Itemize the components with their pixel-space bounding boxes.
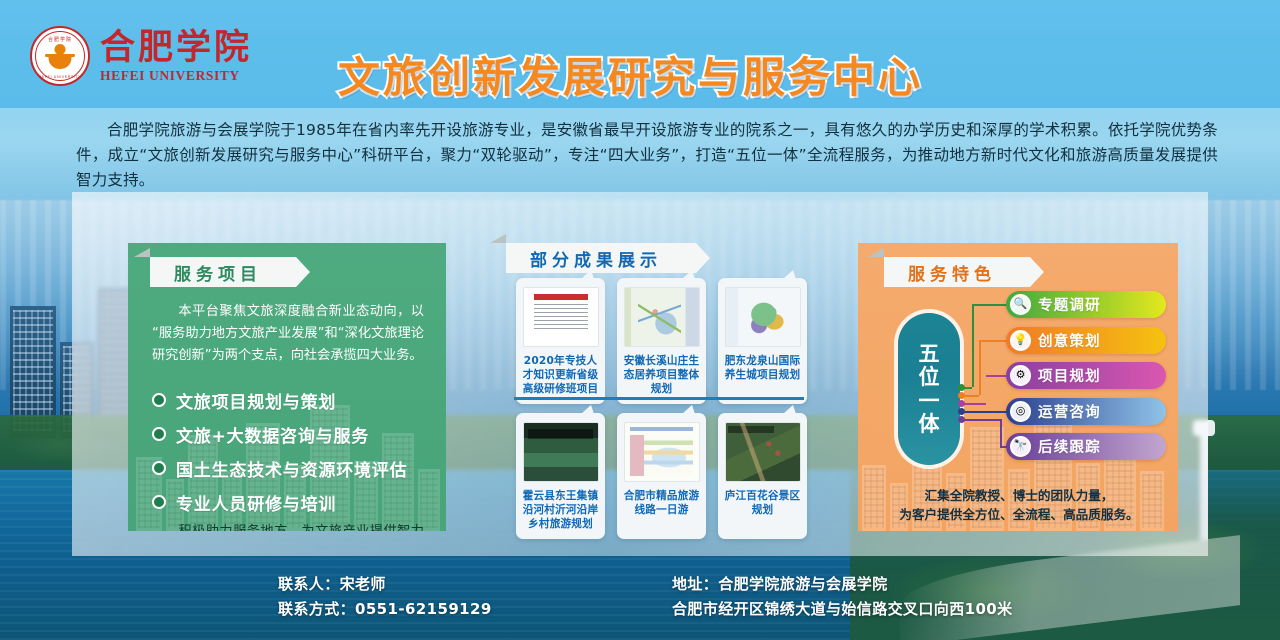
research-icon: 🔍: [1010, 294, 1031, 315]
feature-badges: 🔍 专题调研 💡 创意策划 ⚙ 项目规划 ◎ 运营咨询 🔭 后续跟踪: [1006, 291, 1166, 469]
features-footnote-line1: 汇集全院教授、博士的团队力量，: [888, 486, 1150, 505]
core-char: 位: [919, 366, 940, 388]
result-card[interactable]: 合肥市精品旅游线路一日游: [617, 413, 706, 539]
result-card[interactable]: 霍云县东王集镇沿河村沂河沿岸乡村旅游规划: [516, 413, 605, 539]
bullet-ring-icon: [152, 461, 166, 475]
list-item: 文旅项目规划与策划: [152, 383, 438, 417]
document-thumbnail-icon: [523, 287, 599, 347]
list-item: 国土生态技术与资源环境评估: [152, 451, 438, 485]
feature-badge-label: 运营咨询: [1038, 401, 1101, 422]
core-char: 五: [919, 343, 940, 365]
services-intro: 本平台聚焦文旅深度融合新业态动向，以“服务助力地方文旅产业发展”和“深化文旅理论…: [152, 301, 424, 367]
feature-badge[interactable]: ⚙ 项目规划: [1006, 362, 1166, 389]
feature-badge-label: 创意策划: [1038, 330, 1101, 351]
features-heading: 服务特色: [884, 257, 1030, 287]
feature-badge[interactable]: 🔍 专题调研: [1006, 291, 1166, 318]
address-line-1: 地址：合肥学院旅游与会展学院: [672, 572, 1013, 597]
university-seal-icon: 合肥学院 HEFEI UNIVERSITY: [30, 26, 90, 86]
results-heading-ribbon: 部分成果展示: [506, 243, 696, 273]
core-concept-pill: 五 位 一 体: [898, 313, 960, 465]
header-band: 合肥学院 HEFEI UNIVERSITY 合肥学院 HEFEI UNIVERS…: [0, 0, 1280, 108]
core-char: 一: [919, 390, 940, 412]
service-item-label: 文旅项目规划与策划: [176, 388, 336, 413]
services-panel: 服务项目 本平台聚焦文旅深度融合新业态动向，以“服务助力地方文旅产业发展”和“深…: [128, 243, 446, 531]
river-photo-thumbnail-icon: [523, 422, 599, 482]
tracking-icon: 🔭: [1010, 436, 1031, 457]
tour-table-thumbnail-icon: [624, 422, 700, 482]
logo-name-en: HEFEI UNIVERSITY: [100, 69, 252, 83]
page-title: 文旅创新发展研究与服务中心: [338, 44, 923, 105]
globe-consult-icon: ◎: [1010, 401, 1031, 422]
logo-name-cn: 合肥学院: [100, 30, 252, 65]
result-card[interactable]: 2020年专技人才知识更新省级高级研修班项目: [516, 278, 605, 404]
bullet-ring-icon: [152, 393, 166, 407]
service-item-label: 专业人员研修与培训: [176, 490, 336, 515]
footer-address: 地址：合肥学院旅游与会展学院 合肥市经开区锦绣大道与始信路交叉口向西100米: [672, 572, 1013, 622]
contact-person: 联系人：宋老师: [278, 572, 492, 597]
contact-phone: 联系方式：0551-62159129: [278, 597, 492, 622]
zoning-map-thumbnail-icon: [725, 287, 801, 347]
feature-badge[interactable]: 💡 创意策划: [1006, 327, 1166, 354]
list-item: 专业人员研修与培训: [152, 485, 438, 519]
services-intro-text: 本平台聚焦文旅深度融合新业态动向，以“服务助力地方文旅产业发展”和“深化文旅理论…: [152, 301, 424, 367]
list-item: 文旅+大数据咨询与服务: [152, 417, 438, 451]
features-heading-ribbon: 服务特色: [884, 257, 1030, 287]
features-footnote-line2: 为客户提供全方位、全流程、高品质服务。: [888, 505, 1150, 524]
bullet-ring-icon: [152, 495, 166, 509]
map-plan-thumbnail-icon: [624, 287, 700, 347]
services-heading-ribbon: 服务项目: [150, 257, 296, 287]
poster-canvas: 合肥学院 HEFEI UNIVERSITY 合肥学院 HEFEI UNIVERS…: [0, 0, 1280, 640]
result-caption: 合肥市精品旅游线路一日游: [623, 489, 700, 517]
seal-en-text: HEFEI UNIVERSITY: [39, 75, 82, 79]
seal-emblem: [43, 39, 77, 73]
feature-badge[interactable]: ◎ 运营咨询: [1006, 398, 1166, 425]
results-heading: 部分成果展示: [506, 243, 696, 273]
bullet-ring-icon: [152, 427, 166, 441]
features-footnote: 汇集全院教授、博士的团队力量， 为客户提供全方位、全流程、高品质服务。: [888, 486, 1150, 524]
result-caption: 庐江百花谷景区规划: [724, 489, 801, 517]
feature-badge[interactable]: 🔭 后续跟踪: [1006, 433, 1166, 460]
result-caption: 霍云县东王集镇沿河村沂河沿岸乡村旅游规划: [522, 489, 599, 531]
intro-text: 合肥学院旅游与会展学院于1985年在省内率先开设旅游专业，是安徽省最早开设旅游专…: [76, 118, 1218, 193]
feature-badge-label: 专题调研: [1038, 294, 1101, 315]
address-line-2: 合肥市经开区锦绣大道与始信路交叉口向西100米: [672, 597, 1013, 622]
service-item-label: 文旅+大数据咨询与服务: [176, 422, 369, 447]
result-caption: 肥东龙泉山国际养生城项目规划: [724, 354, 801, 382]
services-footnote-text: 积极助力服务地方，为文旅产业提供智力支持。: [152, 521, 424, 531]
results-bottom-row: 霍云县东王集镇沿河村沂河沿岸乡村旅游规划 合肥市精品旅游线路一日游 庐江百花谷景…: [516, 413, 807, 539]
services-footnote: 积极助力服务地方，为文旅产业提供智力支持。: [152, 521, 424, 531]
result-caption: 安徽长溪山庄生态居养项目整体规划: [623, 354, 700, 396]
result-card[interactable]: 庐江百花谷景区规划: [718, 413, 807, 539]
results-divider: [514, 397, 804, 400]
blueprint-icon: ⚙: [1010, 365, 1031, 386]
result-caption: 2020年专技人才知识更新省级高级研修班项目: [522, 354, 599, 396]
results-top-row: 2020年专技人才知识更新省级高级研修班项目 安徽长溪山庄生态居养项目整体规划 …: [516, 278, 807, 404]
core-char: 体: [919, 413, 940, 435]
result-card[interactable]: 肥东龙泉山国际养生城项目规划: [718, 278, 807, 404]
service-item-label: 国土生态技术与资源环境评估: [176, 456, 407, 481]
feature-badge-label: 项目规划: [1038, 365, 1101, 386]
services-list: 文旅项目规划与策划 文旅+大数据咨询与服务 国土生态技术与资源环境评估 专业人员…: [152, 383, 438, 519]
result-card[interactable]: 安徽长溪山庄生态居养项目整体规划: [617, 278, 706, 404]
footer-contact: 联系人：宋老师 联系方式：0551-62159129: [278, 572, 492, 622]
satellite-thumbnail-icon: [725, 422, 801, 482]
idea-bulb-icon: 💡: [1010, 330, 1031, 351]
feature-badge-label: 后续跟踪: [1038, 436, 1101, 457]
services-heading: 服务项目: [150, 257, 296, 287]
footer: 联系人：宋老师 联系方式：0551-62159129 地址：合肥学院旅游与会展学…: [0, 550, 1280, 640]
university-logo: 合肥学院 HEFEI UNIVERSITY 合肥学院 HEFEI UNIVERS…: [30, 26, 252, 86]
intro-paragraph: 合肥学院旅游与会展学院于1985年在省内率先开设旅游专业，是安徽省最早开设旅游专…: [76, 118, 1218, 193]
features-panel: 服务特色 五 位 一 体 🔍 专题调研 💡 创意策划: [858, 243, 1178, 531]
